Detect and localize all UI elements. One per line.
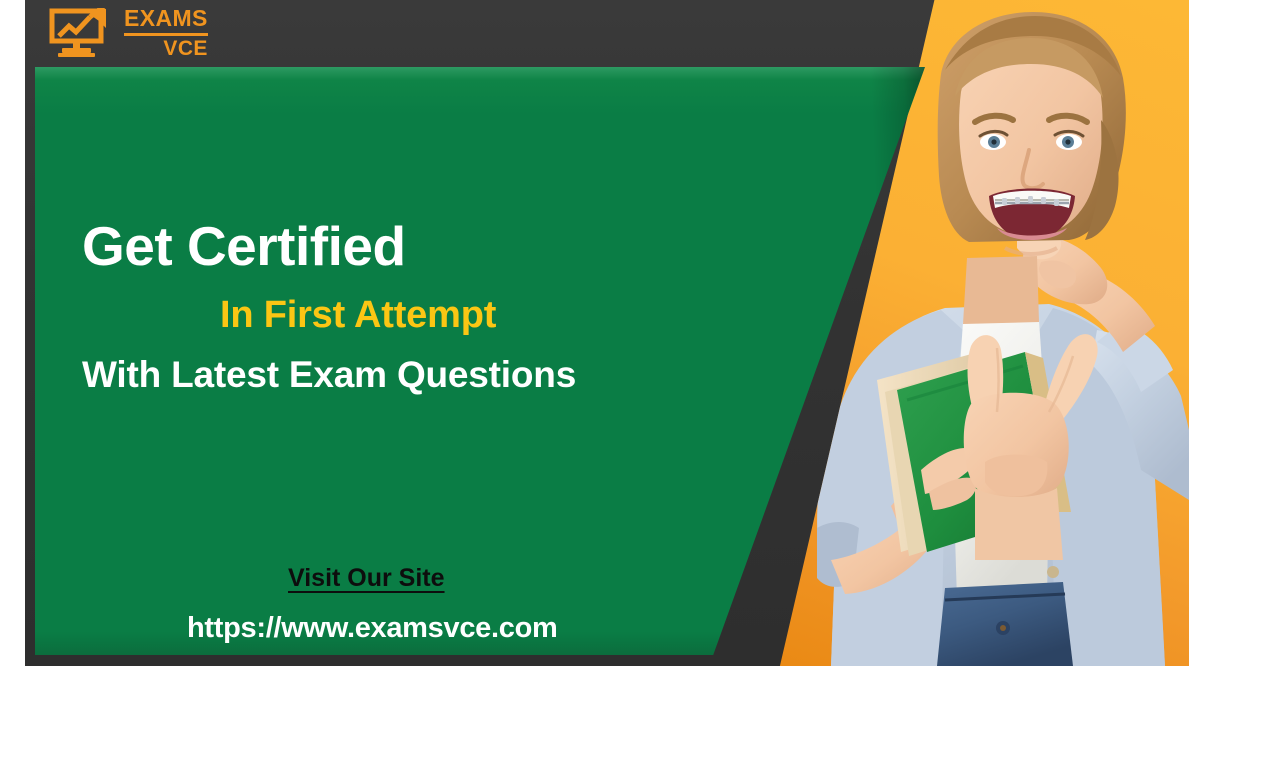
brand-name-bottom: VCE (163, 38, 207, 59)
brand-divider-rule (124, 33, 208, 36)
brand-logo[interactable]: EXAMS VCE (49, 7, 208, 59)
brand-wordmark: EXAMS VCE (124, 7, 208, 59)
monitor-growth-chart-icon (49, 8, 115, 58)
promo-banner: EXAMS VCE Get Certified In First Attempt… (25, 0, 1189, 666)
brand-name-top: EXAMS (124, 7, 208, 32)
